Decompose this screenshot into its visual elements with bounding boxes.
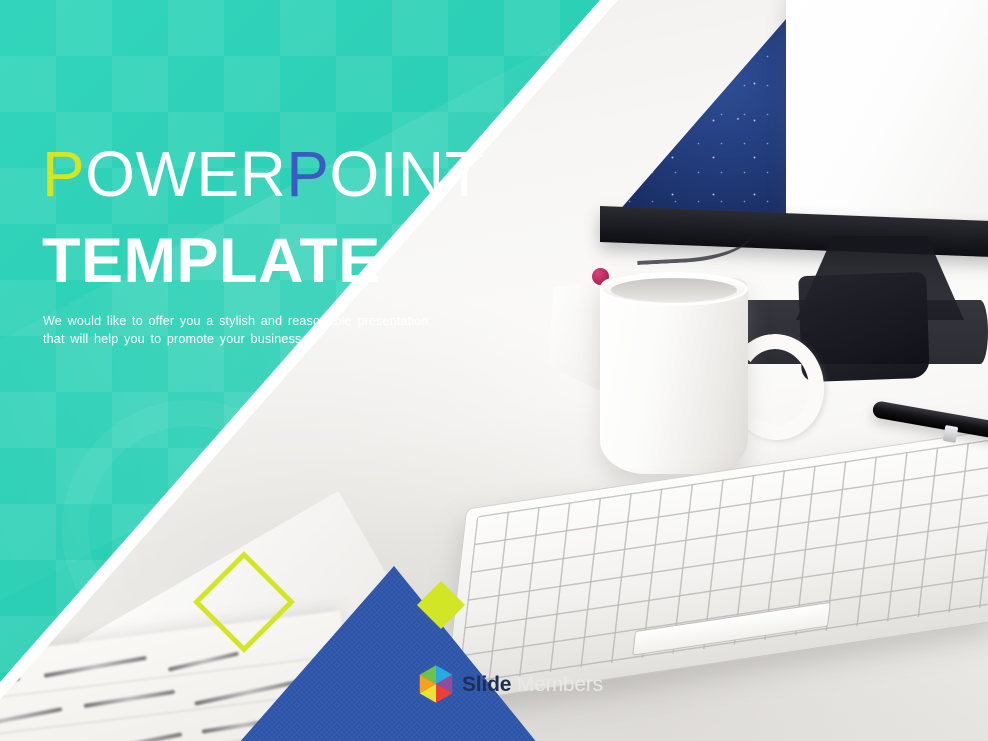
subtitle-text: We would like to offer you a stylish and… <box>43 312 443 348</box>
coffee-mug <box>600 278 748 474</box>
logo-wordmark: Slide Members <box>462 674 603 695</box>
subtitle-line-1: We would like to offer you a stylish and… <box>43 312 443 330</box>
slidemembers-logo[interactable]: Slide Members <box>417 664 603 704</box>
title-ower: OWER <box>85 138 286 210</box>
logo-brand-light: Members <box>511 673 603 696</box>
pen-silver-band <box>943 425 959 443</box>
subtitle-line-2: that will help you to promote your busin… <box>43 330 443 348</box>
title-line-powerpoint: POWERPOINT <box>42 140 484 208</box>
hexagon-pinwheel-icon <box>417 664 455 704</box>
monitor-back-panel <box>786 0 988 224</box>
presentation-slide: POWERPOINT TEMPLATE We would like to off… <box>0 0 988 741</box>
title-oint: OINT <box>329 138 484 210</box>
logo-brand-bold: Slide <box>462 673 511 696</box>
title-p-blue: P <box>286 138 329 210</box>
title-line-template: TEMPLATE <box>42 224 484 298</box>
mug-interior <box>611 278 737 302</box>
title-p-lime: P <box>42 138 85 210</box>
title-block: POWERPOINT TEMPLATE <box>42 140 484 298</box>
